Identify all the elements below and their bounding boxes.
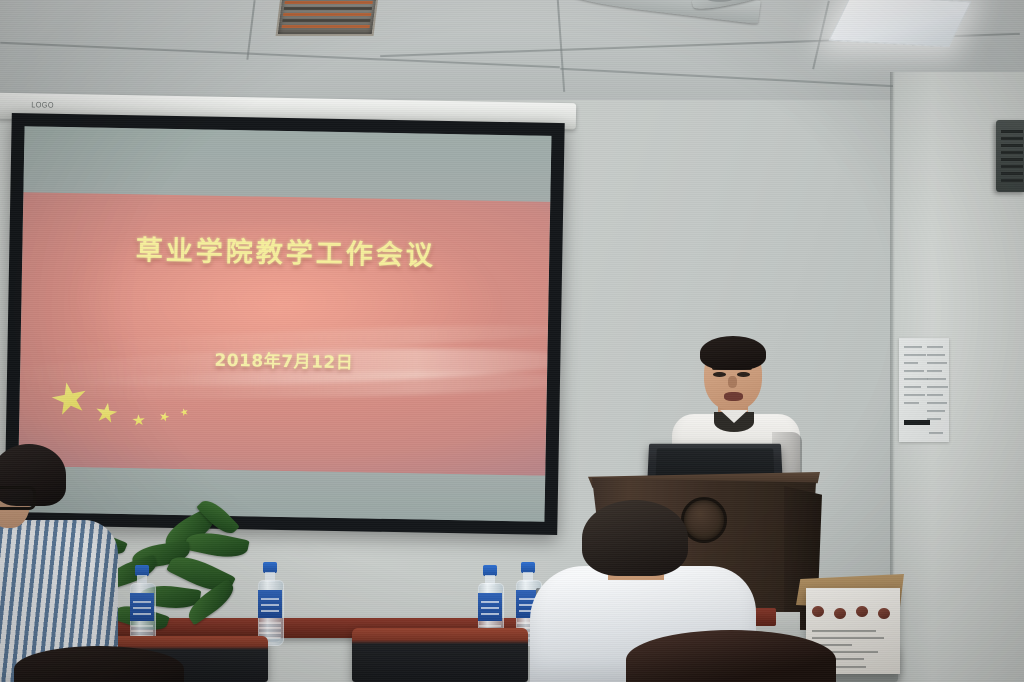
ceiling-tile-seam [246,0,255,60]
ceiling-tile-seam [812,1,830,70]
ceiling-tile-seam [557,0,565,92]
box-product-images [812,606,896,622]
bottle-label [130,593,154,621]
bottle-label [478,593,502,621]
slide-top-band [23,126,551,201]
presenter-hair [700,336,766,370]
slide-star-icon [94,401,119,425]
ceiling-tile-seam [0,42,560,68]
slide-star-icon [158,411,170,423]
notice-redaction-bar [904,420,930,425]
wall-notice-paper [899,338,949,442]
ceiling-light-panel [828,0,971,47]
attendee-center-hair [582,500,688,576]
presenter-mouth [724,392,743,401]
ceiling-vent-icon [276,0,379,36]
slide-star-icon [132,414,146,427]
wall-speaker-icon [996,120,1024,192]
eyeglasses-icon [0,486,36,510]
slide-star-icon [179,408,189,418]
roller-brand-label: LOGO [31,100,54,109]
attendee-foreground-head [626,630,836,682]
bottle-label [258,590,282,618]
photo-scene: LOGO 草业学院教学工作会议 2018年7月12日 [0,0,1024,682]
conference-chair [352,628,528,682]
